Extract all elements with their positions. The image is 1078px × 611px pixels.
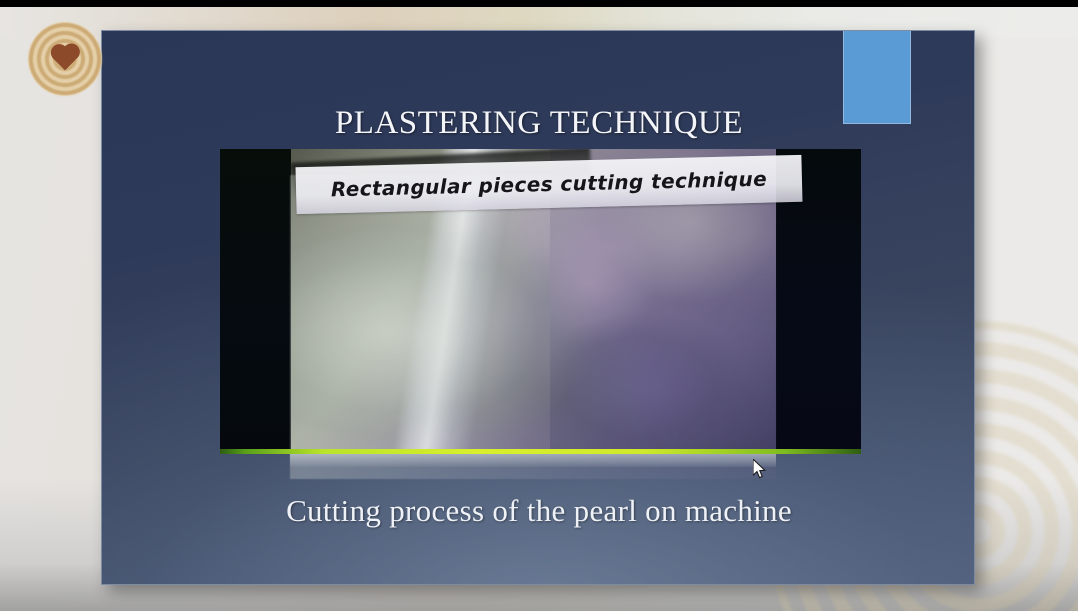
- presentation-viewer[interactable]: PLASTERING TECHNIQUE Rectangular pieces …: [0, 0, 1078, 611]
- embedded-video[interactable]: Rectangular pieces cutting technique: [220, 149, 861, 454]
- video-ghost-overflow: [290, 454, 776, 467]
- video-pillarbox-left: [220, 149, 291, 454]
- slide-title: PLASTERING TECHNIQUE: [102, 105, 975, 142]
- video-progress-bar[interactable]: [220, 449, 861, 454]
- top-letterbox-bar: [0, 0, 1078, 7]
- slide-caption: Cutting process of the pearl on machine: [102, 493, 975, 529]
- slide-canvas[interactable]: PLASTERING TECHNIQUE Rectangular pieces …: [101, 30, 975, 585]
- tree-ring-heart-logo-icon: [28, 22, 102, 96]
